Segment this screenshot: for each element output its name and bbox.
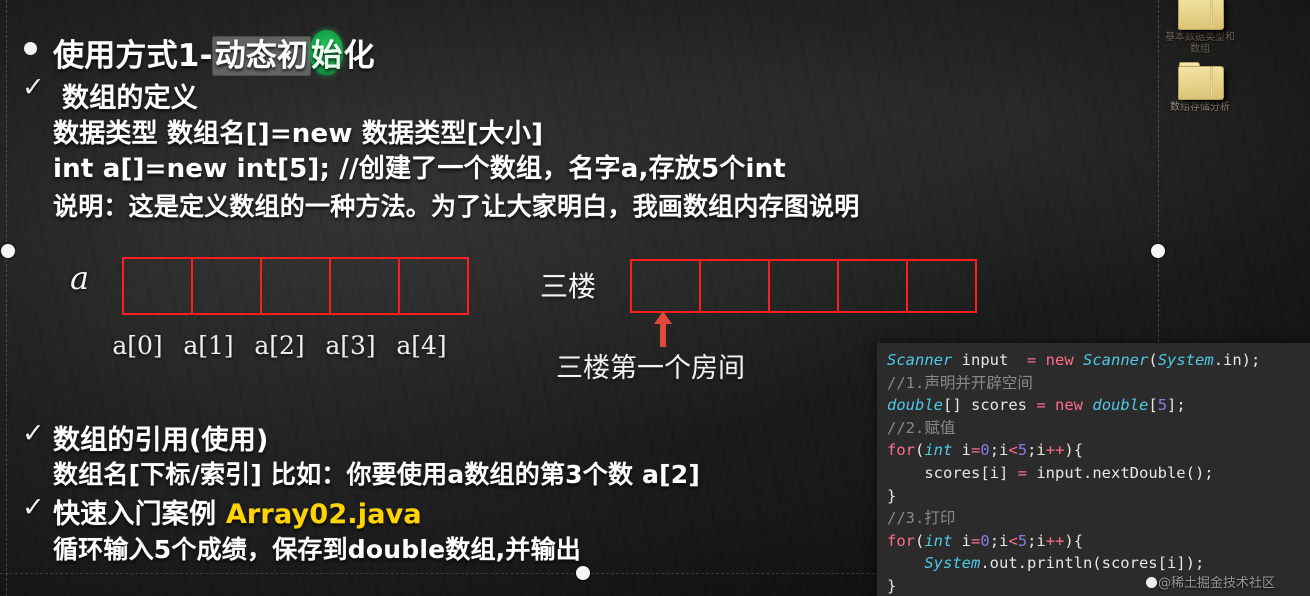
quickstart-prefix: 快速入门案例	[53, 499, 226, 530]
index-label-row: a[0]a[1]a[2]a[3]a[4]	[102, 331, 457, 360]
room-cell-2	[768, 259, 839, 313]
memory-cells-right	[630, 259, 977, 313]
index-label-3: a[3]	[315, 331, 386, 360]
desktop-icon-label: 数组存储分析	[1162, 102, 1238, 114]
code-snippet: Scanner input = new Scanner(System.in);/…	[877, 343, 1310, 596]
desktop-icon-1[interactable]: 数组存储分析	[1162, 62, 1238, 114]
page-title: 使用方式1-动态初始化	[53, 30, 375, 75]
code-line-0: Scanner input = new Scanner(System.in);	[887, 349, 1310, 372]
line-array-syntax: 数据类型 数组名[]=new 数据类型[大小]	[53, 113, 543, 150]
line-array-note: 说明：这是定义数组的一种方法。为了让大家明白，我画数组内存图说明	[53, 187, 859, 223]
variable-label-a: a	[70, 259, 89, 297]
memory-cell-4	[398, 257, 469, 315]
title-prefix: 使用方式1-	[53, 38, 213, 74]
selection-handle-right[interactable]	[1151, 244, 1165, 258]
guide-line-vertical-left	[6, 0, 7, 596]
desktop-icon-label: 基本数据类型和数组	[1162, 32, 1238, 56]
room-cell-0	[630, 259, 701, 313]
checkmark-icon-2: ✓	[22, 420, 45, 447]
code-line-1: //1.声明并开辟空间	[887, 372, 1310, 395]
line-array-usage: 数组名[下标/索引] 比如：你要使用a数组的第3个数 a[2]	[53, 455, 700, 491]
room-cell-1	[699, 259, 770, 313]
code-line-7: //3.打印	[887, 507, 1310, 530]
index-label-4: a[4]	[386, 331, 457, 360]
watermark: @稀土掘金技术社区	[1146, 572, 1275, 591]
checkmark-icon-3: ✓	[22, 494, 45, 521]
title-suffix: 化	[343, 38, 374, 74]
line-task-description: 循环输入5个成绩，保存到double数组,并输出	[53, 530, 581, 566]
code-line-5: scores[i] = input.nextDouble();	[887, 462, 1310, 485]
code-line-3: //2.赋值	[887, 417, 1310, 440]
up-arrow-icon	[652, 311, 674, 347]
memory-cell-3	[329, 257, 400, 315]
memory-cells-left	[122, 257, 469, 315]
section-heading-reference: 数组的引用(使用)	[53, 418, 268, 457]
watermark-text: @稀土掘金技术社区	[1158, 576, 1275, 591]
code-line-2: double[] scores = new double[5];	[887, 394, 1310, 417]
arrow-caption-first-room: 三楼第一个房间	[556, 346, 745, 385]
room-cell-3	[837, 259, 908, 313]
desktop-icon-0[interactable]: 基本数据类型和数组	[1162, 0, 1238, 56]
memory-cell-1	[191, 257, 262, 315]
ime-composition-char: 始	[310, 30, 343, 75]
watermark-dot-icon	[1146, 577, 1157, 588]
title-selected-text: 动态初	[213, 37, 311, 75]
slide-canvas: 使用方式1-动态初始化 ✓ 数组的定义 数据类型 数组名[]=new 数据类型[…	[0, 0, 1310, 596]
bullet-dot-icon	[24, 42, 37, 55]
room-cell-4	[906, 259, 977, 313]
code-line-4: for(int i=0;i<5;i++){	[887, 439, 1310, 462]
section-heading-quickstart: 快速入门案例 Array02.java	[53, 492, 422, 531]
index-label-0: a[0]	[102, 331, 173, 360]
line-array-example: int a[]=new int[5]; //创建了一个数组，名字a,存放5个in…	[53, 148, 786, 185]
checkmark-icon-1: ✓	[22, 74, 45, 101]
index-label-1: a[1]	[173, 331, 244, 360]
memory-cell-0	[122, 257, 193, 315]
selection-handle-bottom[interactable]	[576, 566, 590, 580]
section-heading-definition: 数组的定义	[62, 76, 198, 115]
selection-handle-left[interactable]	[1, 244, 15, 258]
index-label-2: a[2]	[244, 331, 315, 360]
floor-label: 三楼	[540, 265, 596, 305]
code-line-6: }	[887, 485, 1310, 508]
folder-icon	[1178, 62, 1222, 98]
code-line-8: for(int i=0;i<5;i++){	[887, 530, 1310, 553]
folder-icon	[1178, 0, 1222, 28]
memory-cell-2	[260, 257, 331, 315]
quickstart-filename: Array02.java	[226, 499, 422, 530]
